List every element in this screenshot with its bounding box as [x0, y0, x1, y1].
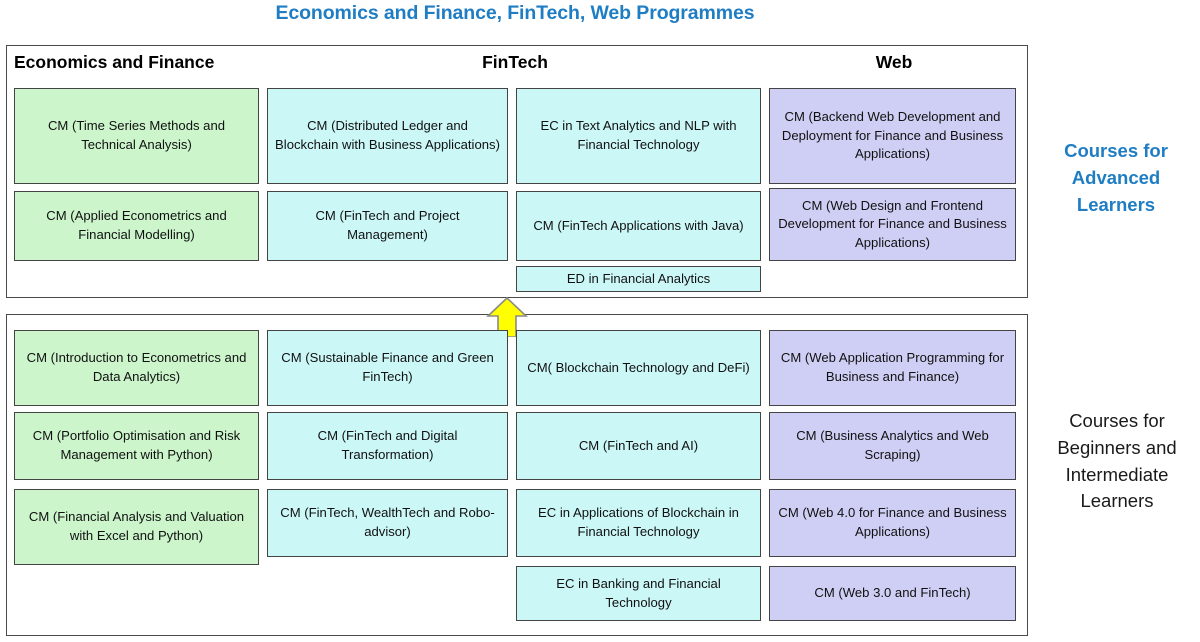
course-box[interactable]: CM (Distributed Ledger and Blockchain wi… — [267, 88, 508, 184]
course-box[interactable]: CM (Web 4.0 for Finance and Business App… — [769, 489, 1016, 557]
course-box[interactable]: CM (FinTech and AI) — [516, 412, 761, 480]
course-box[interactable]: EC in Applications of Blockchain in Fina… — [516, 489, 761, 557]
course-box[interactable]: CM (Introduction to Econometrics and Dat… — [14, 330, 259, 406]
course-box[interactable]: CM (Web Application Programming for Busi… — [769, 330, 1016, 406]
course-box[interactable]: CM (Business Analytics and Web Scraping) — [769, 412, 1016, 480]
course-box[interactable]: CM (Applied Econometrics and Financial M… — [14, 191, 259, 261]
course-box[interactable]: CM (FinTech, WealthTech and Robo-advisor… — [267, 489, 508, 557]
course-box[interactable]: EC in Text Analytics and NLP with Financ… — [516, 88, 761, 184]
course-box[interactable]: CM (FinTech Applications with Java) — [516, 191, 761, 261]
side-label-advanced-learners: Courses for Advanced Learners — [1036, 138, 1196, 218]
course-box[interactable]: EC in Banking and Financial Technology — [516, 566, 761, 621]
column-header-economics-and-finance: Economics and Finance — [14, 52, 259, 73]
course-box[interactable]: CM (FinTech and Digital Transformation) — [267, 412, 508, 480]
side-label-beginner-learners: Courses for Beginners and Intermediate L… — [1034, 408, 1200, 515]
course-box[interactable]: CM (Portfolio Optimisation and Risk Mana… — [14, 412, 259, 480]
course-box[interactable]: CM (Time Series Methods and Technical An… — [14, 88, 259, 184]
course-box[interactable]: CM (Web 3.0 and FinTech) — [769, 566, 1016, 621]
column-header-fintech: FinTech — [265, 52, 765, 73]
course-box[interactable]: CM (Backend Web Development and Deployme… — [769, 88, 1016, 184]
page-title: Economics and Finance, FinTech, Web Prog… — [0, 2, 1030, 25]
course-box[interactable]: CM (Sustainable Finance and Green FinTec… — [267, 330, 508, 406]
column-header-web: Web — [770, 52, 1018, 73]
diagram-canvas: Economics and Finance, FinTech, Web Prog… — [0, 0, 1200, 642]
course-box[interactable]: CM( Blockchain Technology and DeFi) — [516, 330, 761, 406]
course-box[interactable]: CM (Web Design and Frontend Development … — [769, 188, 1016, 261]
course-box[interactable]: CM (FinTech and Project Management) — [267, 191, 508, 261]
course-box[interactable]: CM (Financial Analysis and Valuation wit… — [14, 489, 259, 565]
course-box[interactable]: ED in Financial Analytics — [516, 266, 761, 292]
